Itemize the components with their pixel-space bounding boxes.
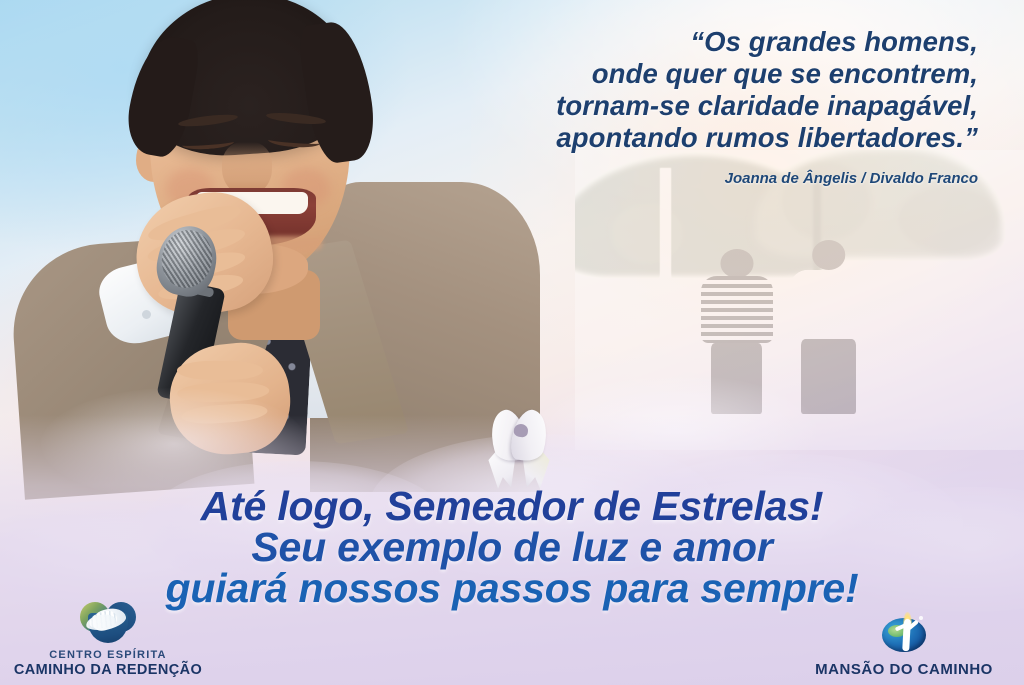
globe-figure-icon: [879, 612, 929, 656]
memorial-poster: “Os grandes homens, onde quer que se enc…: [0, 0, 1024, 685]
background-photo: [575, 150, 1024, 450]
headline-line-2: Seu exemplo de luz e amor: [0, 527, 1024, 568]
heart-hands-icon: [80, 600, 136, 644]
quote-line-2: onde quer que se encontrem,: [358, 58, 978, 90]
quote-text: “Os grandes homens, onde quer que se enc…: [358, 26, 978, 154]
white-mourning-ribbon-icon: [487, 410, 553, 490]
logo-left-line-2: CAMINHO DA REDENÇÃO: [8, 662, 208, 679]
quote-line-1: “Os grandes homens,: [358, 26, 978, 58]
quote-line-3: tornam-se claridade inapagável,: [358, 90, 978, 122]
logo-mansao-do-caminho: MANSÃO DO CAMINHO: [794, 612, 1014, 679]
quote-attribution: Joanna de Ângelis / Divaldo Franco: [358, 170, 978, 187]
logo-left-line-1: CENTRO ESPÍRITA: [8, 649, 208, 662]
background-person-striped: [701, 246, 773, 414]
logo-centro-espirita: CENTRO ESPÍRITA CAMINHO DA REDENÇÃO: [8, 600, 208, 679]
logo-right-line-1: MANSÃO DO CAMINHO: [794, 661, 1014, 679]
quote-line-4: apontando rumos libertadores.”: [358, 122, 978, 154]
background-person-white: [791, 240, 867, 414]
headline-line-1: Até logo, Semeador de Estrelas!: [0, 486, 1024, 527]
headline-message: Até logo, Semeador de Estrelas! Seu exem…: [0, 486, 1024, 609]
